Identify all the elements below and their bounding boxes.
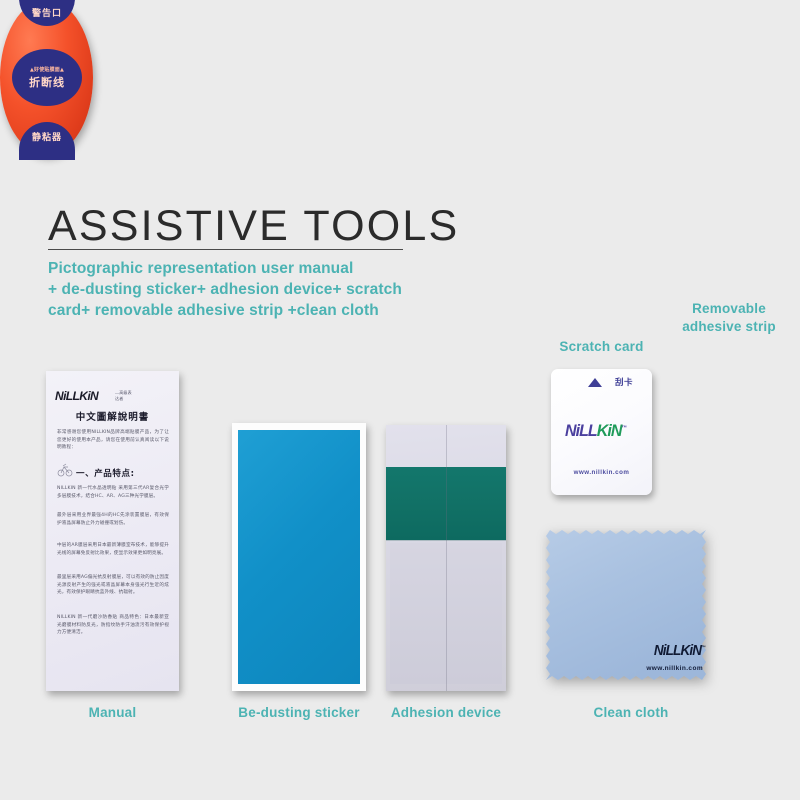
product-feature-image: ASSISTIVE TOOLS Pictographic representat… xyxy=(0,0,800,800)
scratch-card-brand-part2: KiN xyxy=(597,421,622,440)
caption-adhesive-strip-line-2: adhesive strip xyxy=(655,318,800,336)
page-subtitle: Pictographic representation user manual … xyxy=(48,258,448,321)
caption-clean-cloth: Clean cloth xyxy=(545,705,717,720)
product-manual: NiLLKiN —高级表达者 中文圖解說明書 非常感谢您使用NILLKIN品牌高… xyxy=(46,371,179,691)
adhesive-strip-label-bottom: 静粘器 xyxy=(19,122,75,155)
product-dedusting-sticker xyxy=(232,423,366,691)
caption-scratch-card: Scratch card xyxy=(551,339,652,354)
manual-paragraph-2: 最外层采用业界最强4H的HC先涂装置膜层，有效保护液晶屏幕防止外力碰撞或划伤。 xyxy=(57,512,169,527)
caption-adhesion-device: Adhesion device xyxy=(380,705,512,720)
scratch-card-chinese-label: 刮卡 xyxy=(615,376,633,388)
manual-paragraph-1: NILLKIN 新一代水晶透明贴 采用第三代AR复合光学多层膜技术，结合HC、A… xyxy=(57,485,169,500)
title-underline xyxy=(48,249,403,250)
caption-adhesive-strip: Removable adhesive strip xyxy=(655,300,800,336)
manual-doc-title: 中文圖解說明書 xyxy=(46,409,179,423)
scratch-card-trademark: ™ xyxy=(621,425,626,431)
manual-paragraph-3: 中层的AR膜层采用日本最新薄膜室布技术，能够提升光线的屏幕免反射比效果，使显示效… xyxy=(57,542,169,557)
page-title: ASSISTIVE TOOLS xyxy=(48,202,459,251)
manual-brand-tagline: —高级表达者 xyxy=(115,390,133,402)
clean-cloth-brand-logo: NiLLKiN™ xyxy=(654,643,705,659)
clean-cloth-url: www.nillkin.com xyxy=(646,665,703,672)
manual-paragraph-5: NILLKIN 新一代磨沙防稥贴 商品特色：日本最新亚光磨膜材料防反光，防指纹防… xyxy=(57,614,169,637)
product-clean-cloth: NiLLKiN™ www.nillkin.com xyxy=(545,525,717,692)
adhesion-device-fold-line xyxy=(446,425,447,691)
scratch-card-brand-logo: NiLLKiN™ xyxy=(565,421,626,441)
manual-brand-text: NiLLKiN xyxy=(55,389,98,403)
product-scratch-card: 刮卡 NiLLKiN™ www.nillkin.com xyxy=(551,369,652,495)
subtitle-line-1: Pictographic representation user manual xyxy=(48,258,448,279)
product-adhesive-strip: 警告口 ▲好使贴膜面▲ 折断线 静粘器 xyxy=(0,0,93,155)
triangle-icon xyxy=(588,378,602,387)
caption-dedusting-sticker: Be-dusting sticker xyxy=(232,705,366,720)
manual-section-title: 一、产品特点: xyxy=(76,467,135,479)
product-adhesion-device xyxy=(386,425,506,691)
manual-brand-logo: NiLLKiN —高级表达者 xyxy=(55,387,133,398)
adhesive-strip-label-middle-big: 折断线 xyxy=(29,74,65,90)
adhesive-strip-label-middle-small: ▲好使贴膜面▲ xyxy=(30,66,64,73)
clean-cloth-brand-text: NiLLKiN xyxy=(654,643,701,659)
subtitle-line-2: + de-dusting sticker+ adhesion device+ s… xyxy=(48,279,448,300)
subtitle-line-3: card+ removable adhesive strip +clean cl… xyxy=(48,300,448,321)
scratch-card-brand-part1: NiLL xyxy=(565,421,597,440)
manual-paragraph-4: 最里层采用AG偏光抗反射膜层，可以有效的防止因度光源反射产生的强光或液晶屏幕本身… xyxy=(57,574,169,597)
caption-manual: Manual xyxy=(46,705,179,720)
dedusting-sticker-surface xyxy=(238,430,360,684)
scratch-card-url: www.nillkin.com xyxy=(551,469,652,476)
manual-section-icon xyxy=(57,463,73,477)
clean-cloth-trademark: ™ xyxy=(701,645,705,651)
adhesive-strip-label-top: 警告口 xyxy=(19,0,75,26)
caption-adhesive-strip-line-1: Removable xyxy=(655,300,800,318)
adhesive-strip-label-middle: ▲好使贴膜面▲ 折断线 xyxy=(12,49,82,106)
manual-intro-paragraph: 非常感谢您使用NILLKIN品牌高端贴膜产品，为了让您更好的使用本产品，请您在使… xyxy=(57,429,169,452)
